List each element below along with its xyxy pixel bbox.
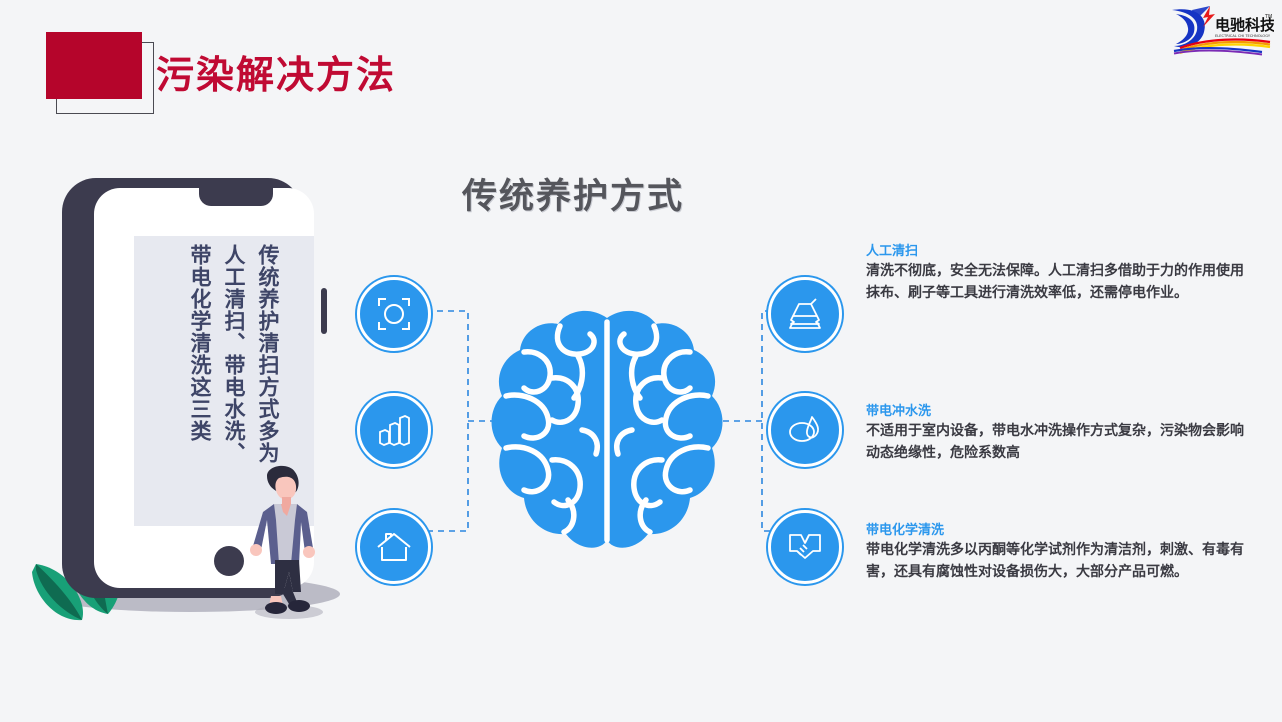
phone-text-line-2: 人工清扫、带电水洗、 — [223, 244, 244, 520]
broom-icon[interactable] — [768, 277, 842, 351]
person-shoe-right — [288, 600, 310, 612]
person-shoe-left — [265, 602, 287, 614]
title-filled-square — [46, 32, 142, 99]
person-hand-right — [303, 546, 315, 558]
info-body-3: 带电化学清洗多以丙酮等化学试剂作为清洁剂，刺激、有毒有害，还具有腐蚀性对设备损伤… — [866, 540, 1246, 583]
phone-illustration: 传统养护清扫方式多为 人工清扫、带电水洗、 带电化学清洗这三类 — [40, 178, 340, 648]
phone-side-button[interactable] — [321, 288, 327, 334]
person-hand-left — [250, 544, 262, 556]
water-drop-icon[interactable] — [768, 393, 842, 467]
svg-text:ELECTRICAL CHI TECHNOLOGY: ELECTRICAL CHI TECHNOLOGY — [1215, 34, 1271, 38]
bar-chart-icon[interactable] — [357, 393, 431, 467]
page-title: 污染解决方法 — [156, 44, 396, 99]
info-body-1: 清洗不彻底，安全无法保障。人工清扫多借助于力的作用使用抹布、刷子等工具进行清洗效… — [866, 261, 1246, 304]
info-block-2: 带电冲水洗 不适用于室内设备，带电水冲洗操作方式复杂，污染物会影响动态绝缘性，危… — [866, 400, 1246, 464]
phone-notch — [199, 188, 273, 206]
info-body-2: 不适用于室内设备，带电水冲洗操作方式复杂，污染物会影响动态绝缘性，危险系数高 — [866, 421, 1246, 464]
phone-home-button[interactable] — [214, 546, 244, 576]
info-block-1: 人工清扫 清洗不彻底，安全无法保障。人工清扫多借助于力的作用使用抹布、刷子等工具… — [866, 240, 1246, 304]
slide-title-block: 污染解决方法 — [46, 28, 426, 118]
logo-swoosh — [1174, 40, 1270, 55]
company-logo: 电驰科技 ELECTRICAL CHI TECHNOLOGY TM — [1162, 4, 1274, 56]
person-illustration — [245, 460, 325, 620]
info-block-3: 带电化学清洗 带电化学清洗多以丙酮等化学试剂作为清洁剂，刺激、有毒有害，还具有腐… — [866, 519, 1246, 583]
person-face — [275, 477, 296, 500]
brain-illustration — [482, 300, 732, 570]
phone-text-line-3: 带电化学清洗这三类 — [189, 244, 210, 520]
info-title-3: 带电化学清洗 — [866, 519, 1246, 538]
focus-frame-icon[interactable] — [357, 277, 431, 351]
info-title-2: 带电冲水洗 — [866, 400, 1246, 419]
info-title-1: 人工清扫 — [866, 240, 1246, 259]
svg-text:TM: TM — [1264, 14, 1272, 20]
section-heading: 传统养护方式 — [462, 168, 684, 219]
slide-canvas: 污染解决方法 电驰科技 ELECTRICAL CHI TECHNOLOGY TM… — [0, 0, 1282, 722]
handshake-icon[interactable] — [768, 510, 842, 584]
house-icon[interactable] — [357, 510, 431, 584]
